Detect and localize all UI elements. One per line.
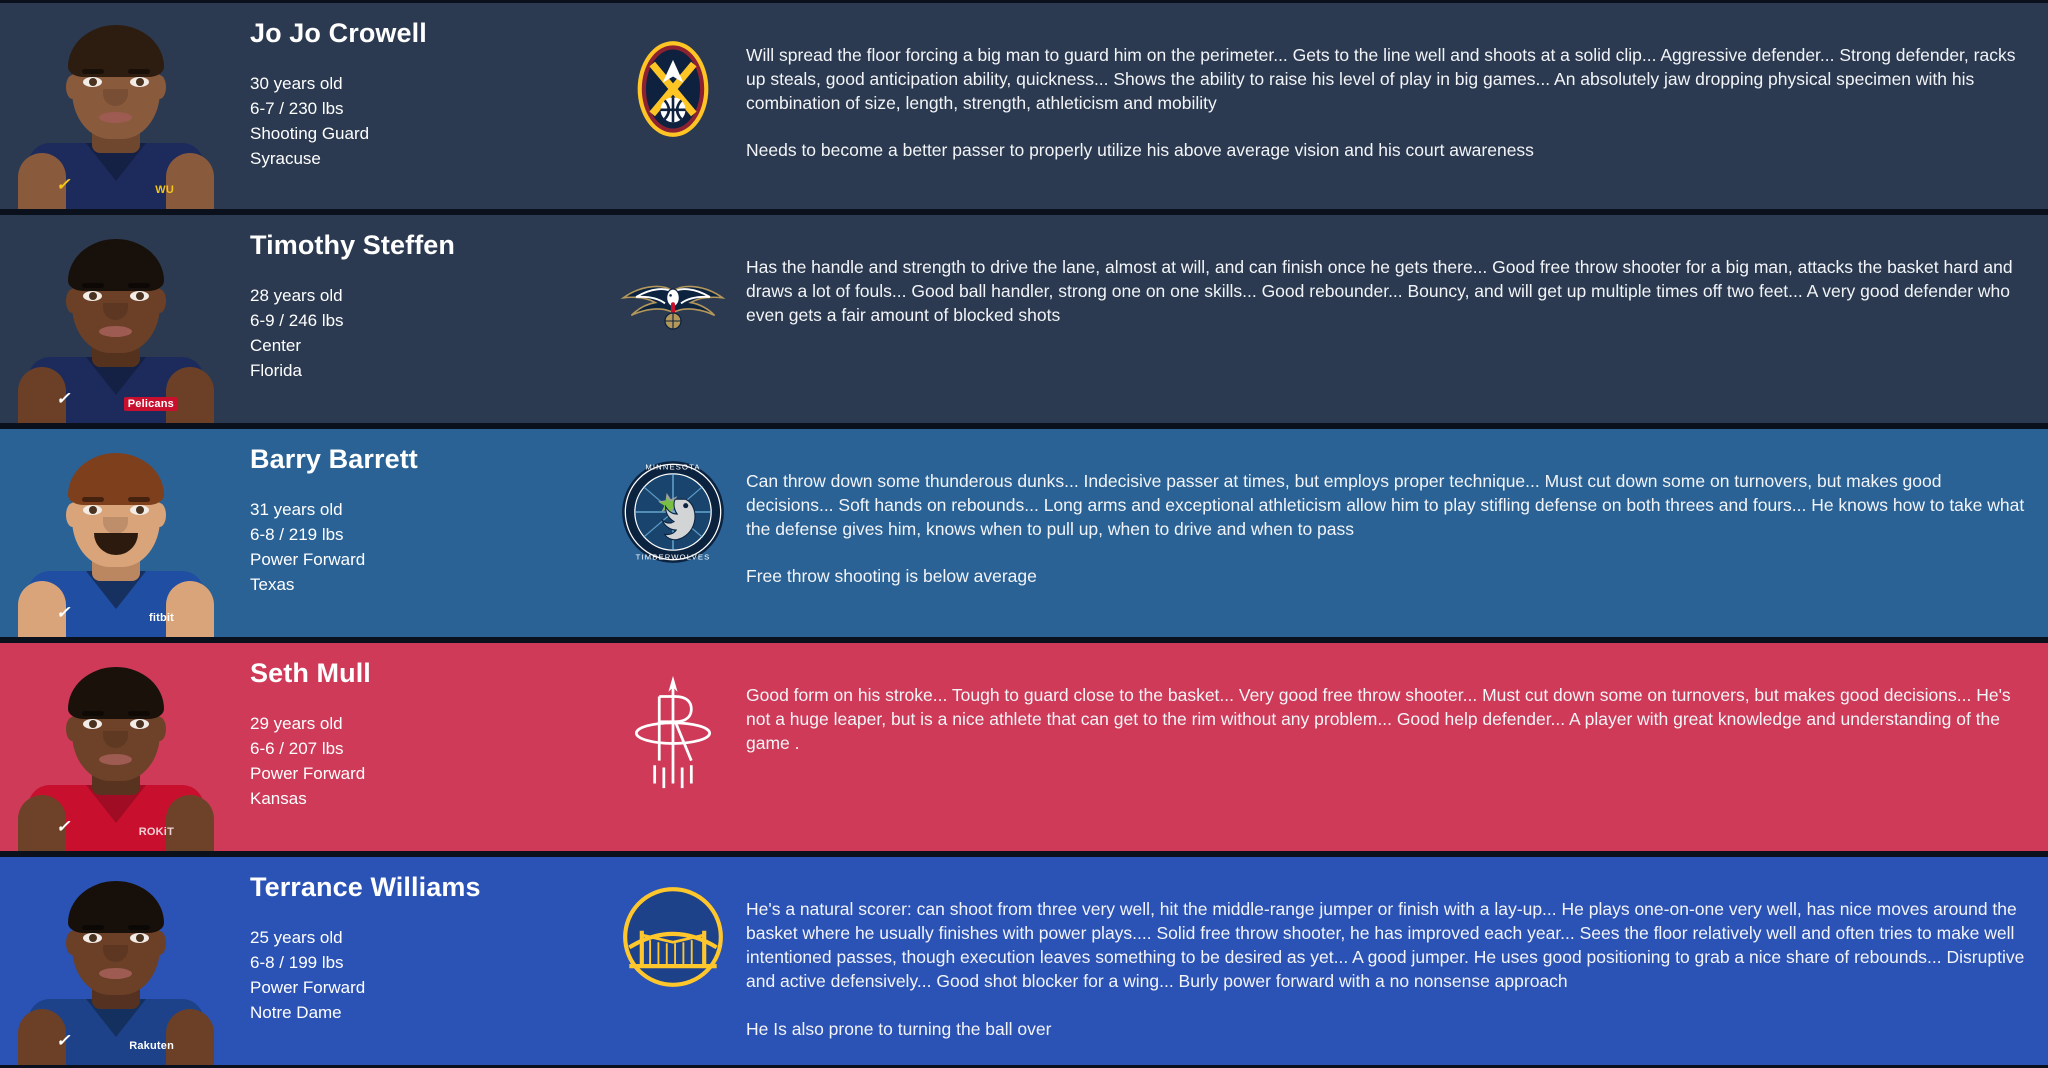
eyebrow-left <box>82 497 104 502</box>
scouting-text: Has the handle and strength to drive the… <box>746 215 2048 350</box>
player-age: 25 years old <box>250 925 600 950</box>
scouting-weaknesses: Free throw shooting is below average <box>746 564 2032 588</box>
nike-swoosh-icon: ✓ <box>56 604 68 621</box>
eye-left <box>83 77 102 87</box>
shoulder-right <box>166 795 214 851</box>
nike-swoosh-icon: ✓ <box>56 176 68 193</box>
shoulder-right <box>166 581 214 637</box>
player-college: Florida <box>250 358 600 383</box>
eyebrow-left <box>82 283 104 288</box>
player-portrait: ✓ Pelicans <box>0 215 232 423</box>
player-college: Texas <box>250 572 600 597</box>
scouting-text: Good form on his stroke... Tough to guar… <box>746 643 2048 778</box>
scouting-strengths: Can throw down some thunderous dunks... … <box>746 469 2032 541</box>
eye-right <box>130 77 149 87</box>
player-info: Timothy Steffen 28 years old 6-9 / 246 l… <box>232 215 600 383</box>
mouth <box>99 112 132 123</box>
player-position: Shooting Guard <box>250 121 600 146</box>
team-logo-houston-rockets[interactable] <box>600 643 746 851</box>
player-age: 31 years old <box>250 497 600 522</box>
scouting-text: Will spread the floor forcing a big man … <box>746 3 2048 163</box>
eye-left <box>83 719 102 729</box>
mouth <box>99 968 132 979</box>
portrait-figure: ✓ Rakuten <box>18 869 214 1065</box>
scouting-strengths: Has the handle and strength to drive the… <box>746 255 2032 327</box>
eye-right <box>130 719 149 729</box>
shoulder-right <box>166 153 214 209</box>
scouting-text: Can throw down some thunderous dunks... … <box>746 429 2048 589</box>
player-portrait: ✓ ROKiT <box>0 643 232 851</box>
player-name[interactable]: Timothy Steffen <box>250 231 600 261</box>
team-logo-golden-state-warriors[interactable] <box>600 857 746 1065</box>
player-age: 28 years old <box>250 283 600 308</box>
player-info: Barry Barrett 31 years old 6-8 / 219 lbs… <box>232 429 600 597</box>
player-measurements: 6-7 / 230 lbs <box>250 96 600 121</box>
player-portrait: ✓ WU <box>0 3 232 209</box>
mouth <box>99 754 132 765</box>
player-position: Power Forward <box>250 761 600 786</box>
player-row[interactable]: ✓ ROKiT Seth Mull 29 years old 6-6 / 207… <box>0 640 2048 854</box>
player-measurements: 6-8 / 219 lbs <box>250 522 600 547</box>
svg-text:TIMBERWOLVES: TIMBERWOLVES <box>636 553 711 562</box>
scouting-weaknesses: Needs to become a better passer to prope… <box>746 138 2032 162</box>
eyebrow-right <box>128 497 150 502</box>
eyebrow-right <box>128 925 150 930</box>
eyebrow-right <box>128 69 150 74</box>
eye-left <box>83 505 102 515</box>
player-measurements: 6-8 / 199 lbs <box>250 950 600 975</box>
player-row[interactable]: ✓ WU Jo Jo Crowell 30 years old 6-7 / 23… <box>0 0 2048 212</box>
jersey-sponsor-logo: fitbit <box>145 611 178 625</box>
player-name[interactable]: Seth Mull <box>250 659 600 689</box>
eye-right <box>130 933 149 943</box>
shoulder-right <box>166 367 214 423</box>
shoulder-right <box>166 1009 214 1065</box>
player-name[interactable]: Terrance Williams <box>250 873 600 903</box>
nike-swoosh-icon: ✓ <box>56 390 68 407</box>
eyebrow-left <box>82 925 104 930</box>
player-portrait: ✓ Rakuten <box>0 857 232 1065</box>
team-logo-denver-nuggets[interactable] <box>600 3 746 209</box>
nike-swoosh-icon: ✓ <box>56 818 68 835</box>
player-position: Power Forward <box>250 547 600 572</box>
eyebrow-right <box>128 283 150 288</box>
player-age: 30 years old <box>250 71 600 96</box>
player-row[interactable]: ✓ Rakuten Terrance Williams 25 years old… <box>0 854 2048 1068</box>
team-logo-minnesota-timberwolves[interactable]: MINNESOTA TIMBERWOLVES <box>600 429 746 637</box>
eyebrow-left <box>82 711 104 716</box>
scouting-text: He's a natural scorer: can shoot from th… <box>746 857 2048 1041</box>
player-portrait: ✓ fitbit <box>0 429 232 637</box>
scouting-weaknesses: He Is also prone to turning the ball ove… <box>746 1017 2032 1041</box>
portrait-figure: ✓ WU <box>18 13 214 209</box>
jersey-sponsor-logo: WU <box>151 183 178 197</box>
player-info: Seth Mull 29 years old 6-6 / 207 lbs Pow… <box>232 643 600 811</box>
player-age: 29 years old <box>250 711 600 736</box>
player-name[interactable]: Jo Jo Crowell <box>250 19 600 49</box>
player-row[interactable]: ✓ fitbit Barry Barrett 31 years old 6-8 … <box>0 426 2048 640</box>
svg-text:MINNESOTA: MINNESOTA <box>645 463 700 472</box>
mouth <box>99 326 132 337</box>
scouting-strengths: Will spread the floor forcing a big man … <box>746 43 2032 115</box>
player-info: Jo Jo Crowell 30 years old 6-7 / 230 lbs… <box>232 3 600 171</box>
player-position: Power Forward <box>250 975 600 1000</box>
player-measurements: 6-9 / 246 lbs <box>250 308 600 333</box>
player-college: Syracuse <box>250 146 600 171</box>
portrait-figure: ✓ fitbit <box>18 441 214 637</box>
player-info: Terrance Williams 25 years old 6-8 / 199… <box>232 857 600 1025</box>
eye-right <box>130 505 149 515</box>
scouting-strengths: Good form on his stroke... Tough to guar… <box>746 683 2032 755</box>
jersey-sponsor-logo: Rakuten <box>125 1039 178 1053</box>
nike-swoosh-icon: ✓ <box>56 1032 68 1049</box>
eye-left <box>83 933 102 943</box>
player-measurements: 6-6 / 207 lbs <box>250 736 600 761</box>
portrait-figure: ✓ Pelicans <box>18 227 214 423</box>
scouting-report-list: ✓ WU Jo Jo Crowell 30 years old 6-7 / 23… <box>0 0 2048 1068</box>
player-name[interactable]: Barry Barrett <box>250 445 600 475</box>
eyebrow-left <box>82 69 104 74</box>
eyebrow-right <box>128 711 150 716</box>
player-position: Center <box>250 333 600 358</box>
team-logo-new-orleans-pelicans[interactable] <box>600 215 746 423</box>
player-college: Notre Dame <box>250 1000 600 1025</box>
player-row[interactable]: ✓ Pelicans Timothy Steffen 28 years old … <box>0 212 2048 426</box>
eye-left <box>83 291 102 301</box>
portrait-figure: ✓ ROKiT <box>18 655 214 851</box>
eye-right <box>130 291 149 301</box>
scouting-strengths: He's a natural scorer: can shoot from th… <box>746 897 2032 994</box>
player-college: Kansas <box>250 786 600 811</box>
jersey-sponsor-logo: Pelicans <box>124 397 178 411</box>
jersey-sponsor-logo: ROKiT <box>135 825 178 839</box>
